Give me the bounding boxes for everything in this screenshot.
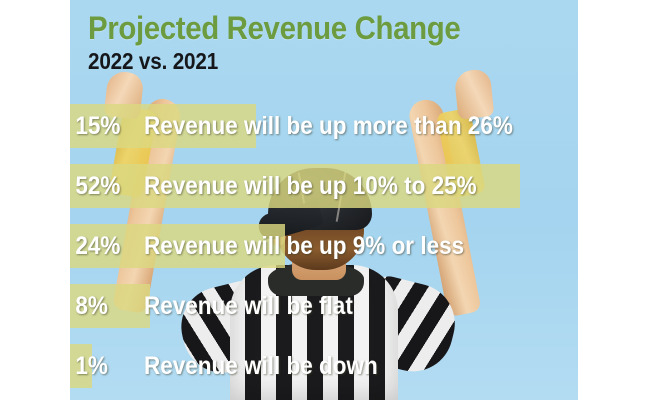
bar-fill (70, 224, 285, 268)
bar-fill (70, 284, 150, 328)
infographic-root: Projected Revenue Change 2022 vs. 2021 1… (0, 0, 648, 400)
page-title: Projected Revenue Change (88, 10, 460, 47)
bar-fill (70, 164, 520, 208)
bar-fill (70, 344, 92, 388)
referee-right-hand (454, 68, 495, 120)
page-subtitle: 2022 vs. 2021 (88, 48, 218, 75)
bar-fill (70, 104, 256, 148)
